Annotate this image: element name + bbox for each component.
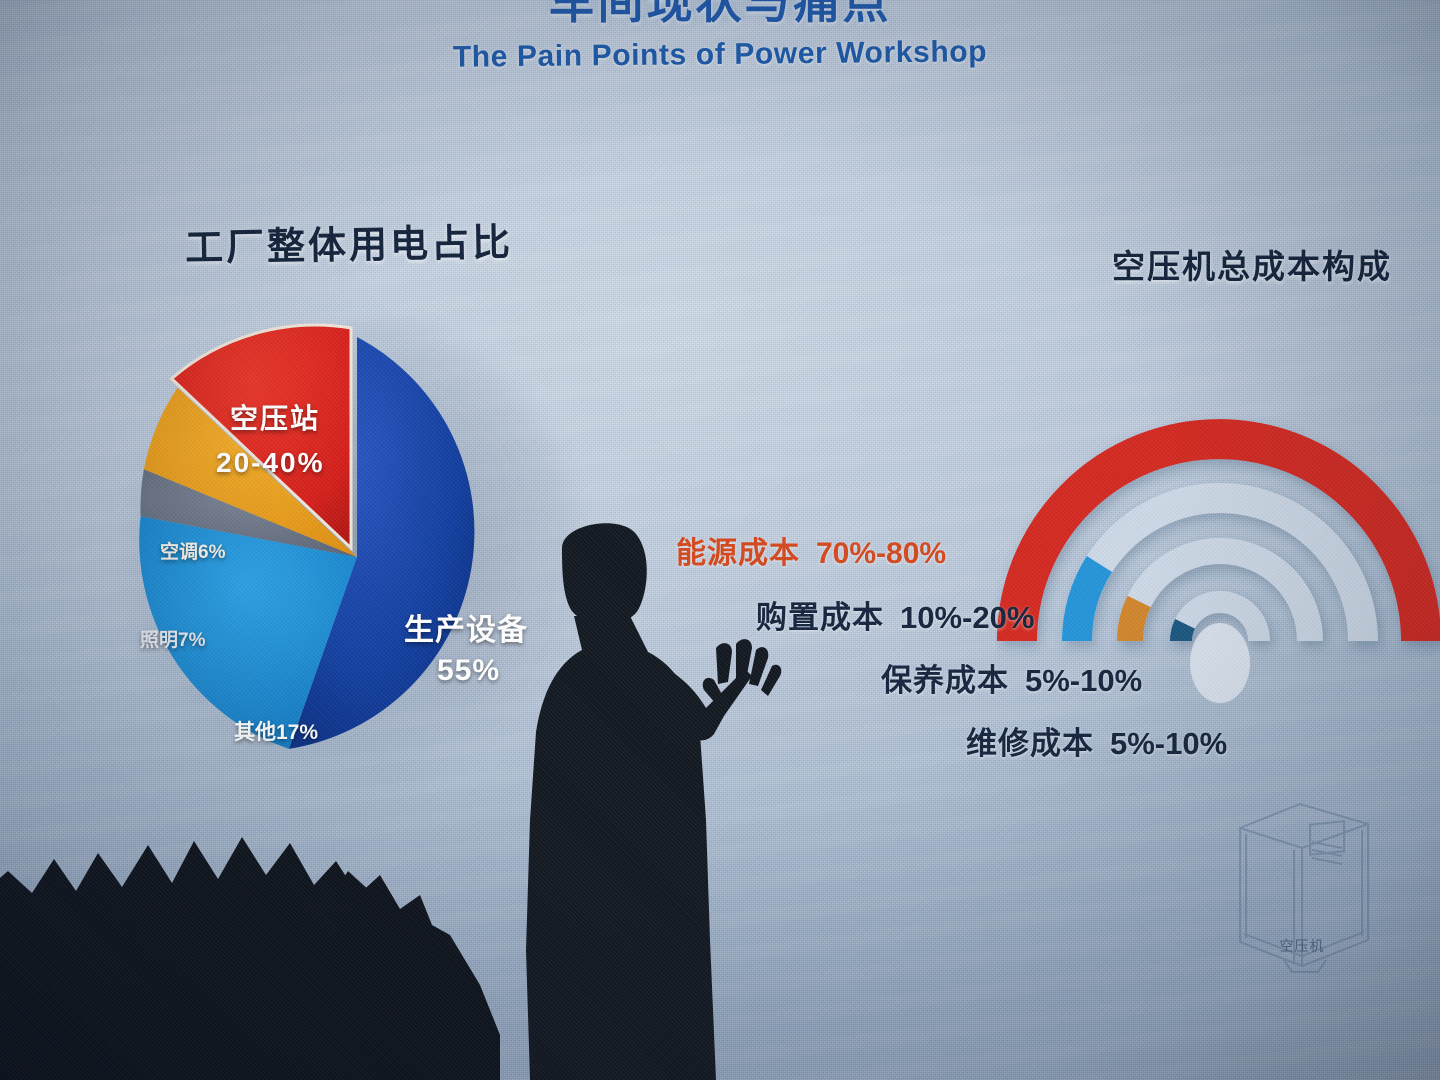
cost-label-energy: 能源成本: [676, 537, 800, 570]
cost-row-purchase: 购置成本10%-20%: [756, 592, 1246, 637]
factory-power-pie-chart: 空压站 20-40% 空调6% 照明7% 其他17% 生产设备 55%: [112, 292, 602, 822]
right-panel-heading: 空压机总成本构成: [1112, 240, 1392, 288]
slide-title-chinese: 车间现状与痛点: [0, 0, 1440, 32]
cost-value-energy: 70%-80%: [816, 537, 946, 570]
cost-label-repair: 维修成本: [966, 726, 1094, 761]
cost-value-repair: 5%-10%: [1110, 726, 1227, 761]
cost-row-repair: 维修成本5%-10%: [966, 718, 1246, 763]
compressor-icon-caption: 空压机: [1222, 936, 1382, 956]
cost-breakdown-list: 能源成本70%-80% 购置成本10%-20% 保养成本5%-10% 维修成本5…: [676, 528, 1246, 763]
slide-photo: 车间现状与痛点 The Pain Points of Power Worksho…: [0, 0, 1440, 1080]
cost-value-purchase: 10%-20%: [900, 600, 1034, 635]
cost-label-maintenance: 保养成本: [881, 663, 1009, 698]
cost-value-maintenance: 5%-10%: [1025, 663, 1142, 698]
cost-row-maintenance: 保养成本5%-10%: [881, 655, 1246, 700]
cost-label-purchase: 购置成本: [756, 600, 884, 635]
cost-row-energy: 能源成本70%-80%: [676, 528, 1246, 572]
left-panel-heading: 工厂整体用电占比: [185, 211, 514, 272]
pie-chart-svg: [112, 292, 602, 822]
